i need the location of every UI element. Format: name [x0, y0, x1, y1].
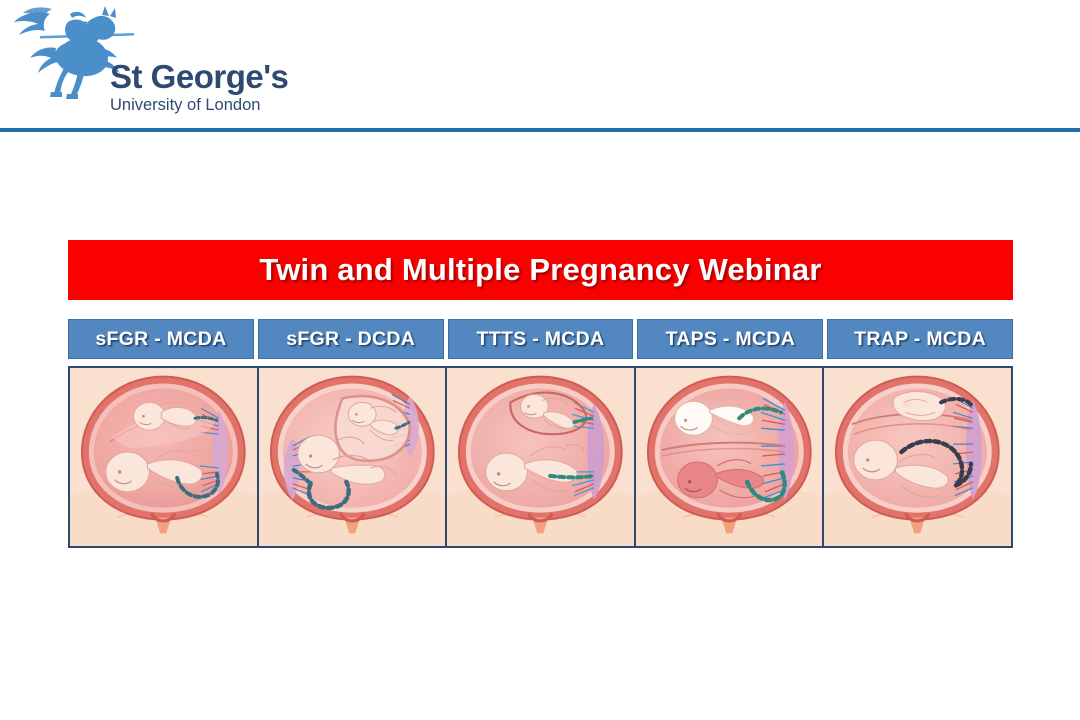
brand-header: St George's University of London — [0, 0, 1080, 131]
illustration-panel-sfgr-mcda[interactable] — [70, 368, 259, 546]
illustration-panel-trap-mcda[interactable] — [824, 368, 1011, 546]
title-banner: Twin and Multiple Pregnancy Webinar — [68, 240, 1013, 300]
category-label-sfgr-dcda[interactable]: sFGR - DCDA — [258, 319, 444, 359]
category-label-trap-mcda[interactable]: TRAP - MCDA — [827, 319, 1013, 359]
category-label-text: TTTS - MCDA — [477, 328, 605, 351]
category-label-text: TAPS - MCDA — [665, 328, 795, 351]
illustration-panel-sfgr-dcda[interactable] — [259, 368, 448, 546]
brand-subtitle: University of London — [110, 93, 300, 118]
illustration-panel-ttts-mcda[interactable] — [447, 368, 636, 546]
brand-name: St George's — [110, 60, 300, 93]
category-label-text: sFGR - DCDA — [286, 328, 415, 351]
st-georges-logo: St George's University of London — [6, 4, 296, 126]
page-title: Twin and Multiple Pregnancy Webinar — [259, 252, 821, 288]
illustration-panel-taps-mcda[interactable] — [636, 368, 825, 546]
category-label-taps-mcda[interactable]: TAPS - MCDA — [637, 319, 823, 359]
illustration-strip — [68, 366, 1013, 548]
brand-wordmark: St George's University of London — [110, 60, 300, 118]
category-label-row: sFGR - MCDA sFGR - DCDA TTTS - MCDA TAPS… — [68, 319, 1013, 359]
category-label-sfgr-mcda[interactable]: sFGR - MCDA — [68, 319, 254, 359]
header-divider-rule — [0, 128, 1080, 132]
category-label-ttts-mcda[interactable]: TTTS - MCDA — [448, 319, 634, 359]
category-label-text: sFGR - MCDA — [95, 328, 226, 351]
category-label-text: TRAP - MCDA — [854, 328, 986, 351]
